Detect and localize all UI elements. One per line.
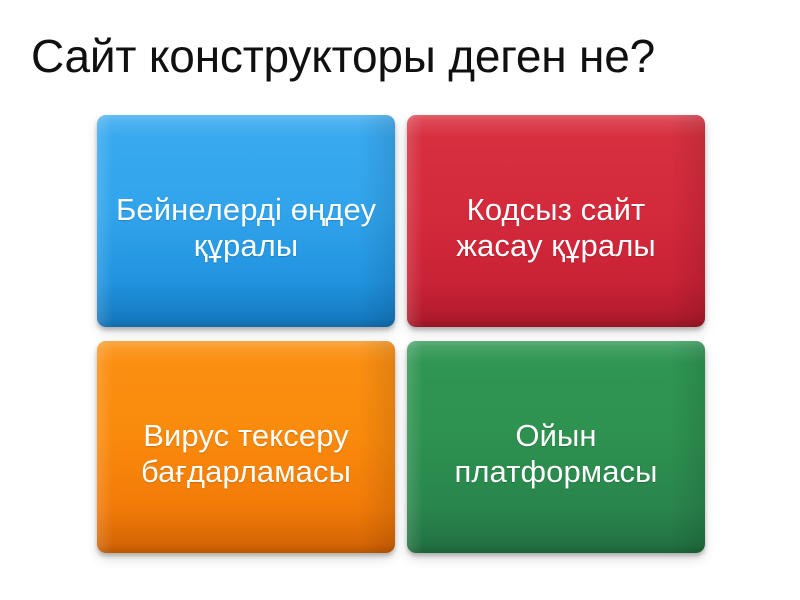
answer-option-4[interactable]: Ойын платформасы <box>407 341 705 553</box>
answer-option-3-label: Вирус тексеру бағдарламасы <box>111 418 381 491</box>
quiz-screen: Сайт конструкторы деген не? Бейнелерді ө… <box>0 0 800 600</box>
question-area: Сайт конструкторы деген не? <box>0 0 800 112</box>
answer-options-grid: Бейнелерді өңдеу құралы Кодсыз сайт жаса… <box>97 115 705 553</box>
answer-option-1[interactable]: Бейнелерді өңдеу құралы <box>97 115 395 327</box>
question-text: Сайт конструкторы деген не? <box>0 32 675 80</box>
answer-option-2[interactable]: Кодсыз сайт жасау құралы <box>407 115 705 327</box>
answer-option-1-label: Бейнелерді өңдеу құралы <box>111 192 381 265</box>
answer-option-4-label: Ойын платформасы <box>421 418 691 491</box>
answer-option-2-label: Кодсыз сайт жасау құралы <box>421 192 691 265</box>
answer-option-3[interactable]: Вирус тексеру бағдарламасы <box>97 341 395 553</box>
